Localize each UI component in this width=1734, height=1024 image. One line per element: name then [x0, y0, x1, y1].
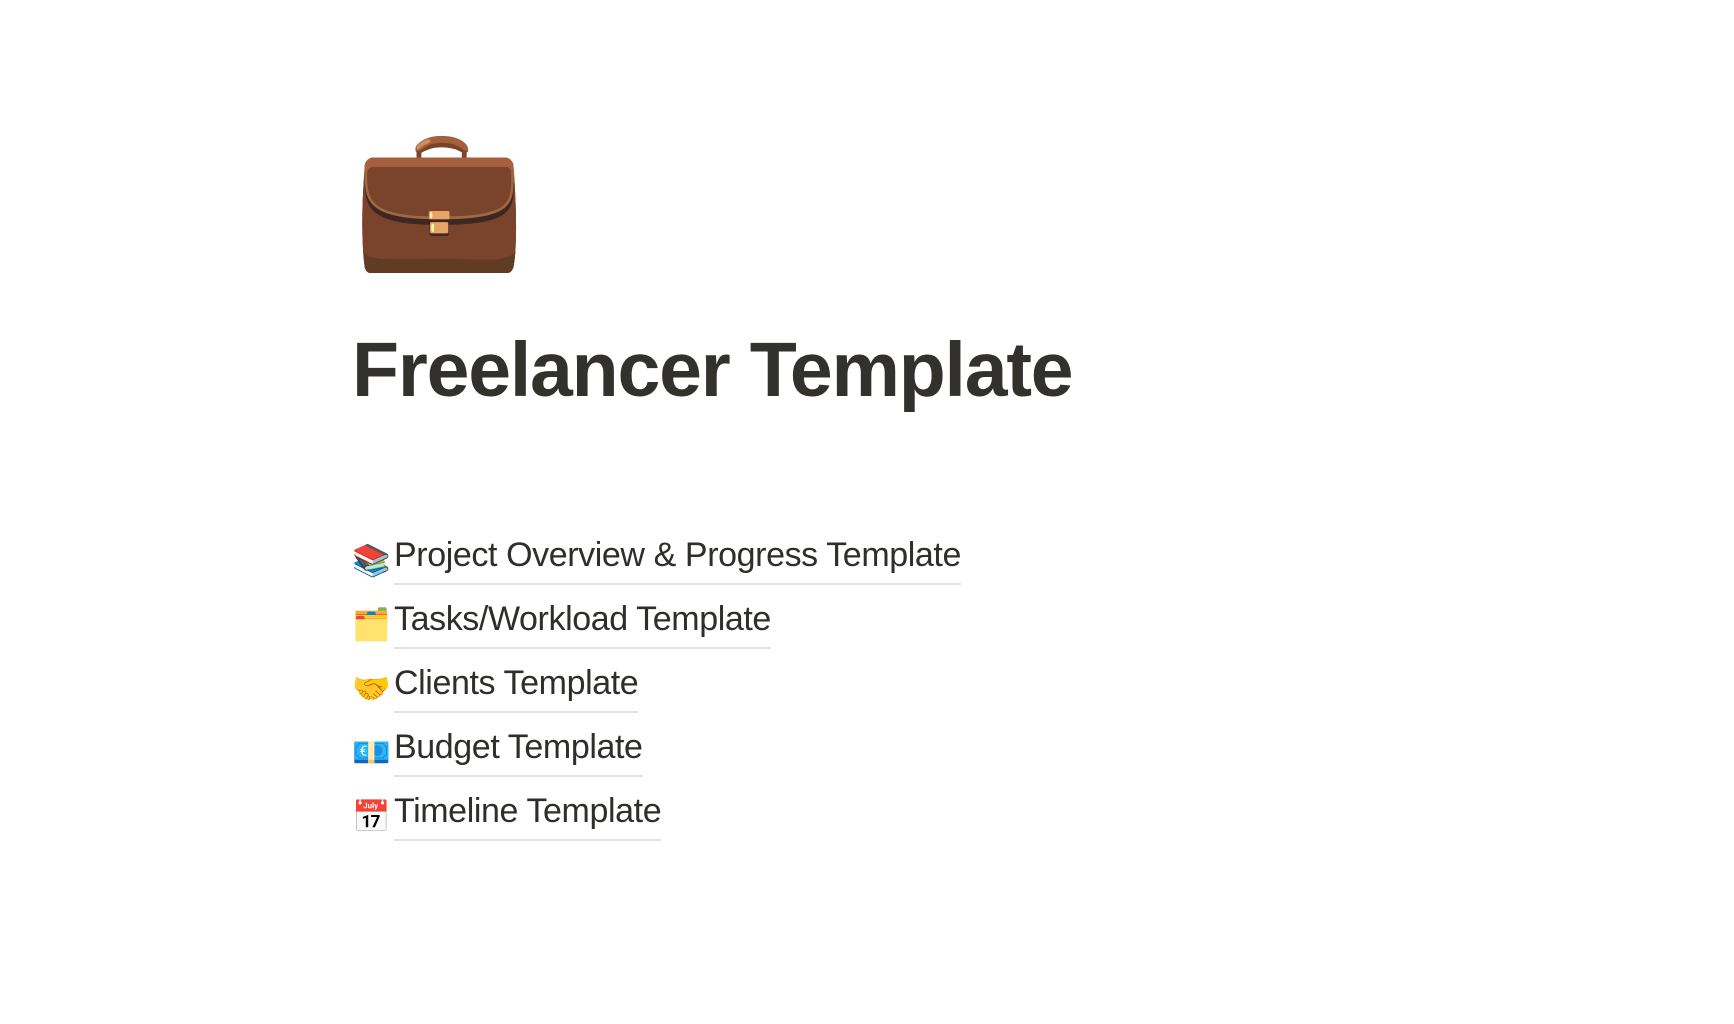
page-title: Freelancer Template	[352, 330, 1072, 411]
link-tasks-workload-template[interactable]: Tasks/Workload Template	[394, 599, 771, 649]
list-item: 💶 Budget Template	[352, 720, 1352, 784]
list-item: 📅 Timeline Template	[352, 784, 1352, 848]
euro-banknote-icon: 💶	[352, 737, 394, 768]
list-item: 🗂️ Tasks/Workload Template	[352, 592, 1352, 656]
link-project-overview-progress-template[interactable]: Project Overview & Progress Template	[394, 535, 961, 585]
link-budget-template[interactable]: Budget Template	[394, 727, 643, 777]
books-icon: 📚	[352, 545, 394, 576]
handshake-icon: 🤝	[352, 673, 394, 704]
page-canvas: 💼 Freelancer Template 📚 Project Overview…	[0, 0, 1734, 1024]
file-folder-icon: 🗂️	[352, 609, 394, 640]
link-timeline-template[interactable]: Timeline Template	[394, 791, 661, 841]
template-link-list: 📚 Project Overview & Progress Template 🗂…	[352, 528, 1352, 848]
link-clients-template[interactable]: Clients Template	[394, 663, 638, 713]
calendar-icon: 📅	[352, 801, 394, 832]
briefcase-icon[interactable]: 💼	[352, 118, 508, 274]
list-item: 🤝 Clients Template	[352, 656, 1352, 720]
list-item: 📚 Project Overview & Progress Template	[352, 528, 1352, 592]
